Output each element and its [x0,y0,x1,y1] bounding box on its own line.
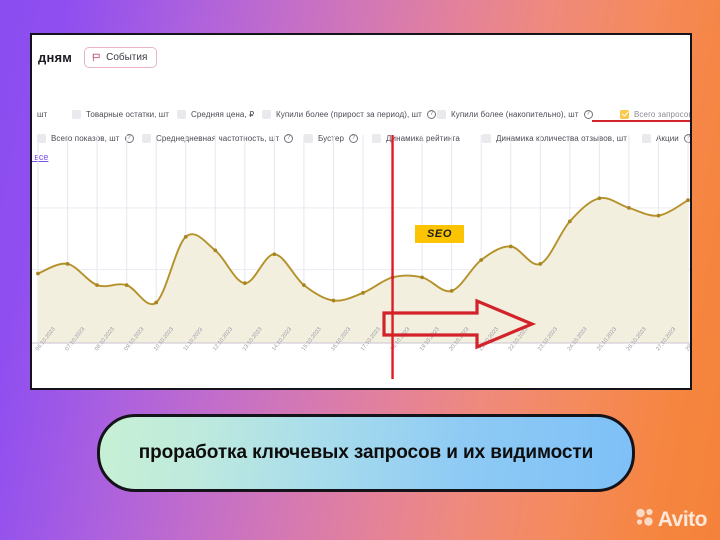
metric-checkbox-item[interactable]: Купили более (накопительно), шт? [437,110,593,119]
events-button-label: События [106,52,147,63]
metric-checkbox-item[interactable]: шт [37,110,47,119]
checkbox-icon[interactable] [177,110,186,119]
caption-text: проработка ключевых запросов и их видимо… [139,440,593,466]
metric-checkbox-item[interactable]: Всего запросов, шт? [620,110,692,119]
metric-label: Всего запросов, шт [634,110,692,119]
metric-checkbox-item[interactable]: Средняя цена, ₽ [177,110,254,119]
seo-annotation-badge: SEO [415,225,464,243]
metric-label: Купили более (накопительно), шт [451,110,579,119]
checkbox-icon[interactable] [437,110,446,119]
metric-label: шт [37,110,47,119]
chart-plot-area[interactable]: 06.10.202307.10.202308.10.202309.10.2023… [32,135,692,390]
avito-watermark-text: Avito [658,508,707,532]
metric-checkbox-item[interactable]: Купили более (прирост за период), шт? [262,110,436,119]
avito-watermark: Avito [635,507,707,532]
metric-label: Купили более (прирост за период), шт [276,110,422,119]
metric-label: Средняя цена, ₽ [191,110,254,119]
card-header: дням События [32,42,690,72]
checkbox-icon[interactable] [620,110,629,119]
checkbox-icon[interactable] [72,110,81,119]
avito-dots-icon [635,507,655,532]
checkbox-icon[interactable] [262,110,271,119]
events-button[interactable]: События [84,47,157,68]
caption-banner: проработка ключевых запросов и их видимо… [97,414,635,492]
flag-icon [92,53,101,62]
active-metric-underline [592,120,692,122]
metric-checkbox-item[interactable]: Товарные остатки, шт [72,110,169,119]
analytics-card: дням События штТоварные остатки, штСредн… [30,33,692,390]
help-icon[interactable]: ? [427,110,436,119]
metric-label: Товарные остатки, шт [86,110,169,119]
requests-line-chart: 06.10.202307.10.202308.10.202309.10.2023… [32,135,692,390]
period-title: дням [38,50,72,65]
help-icon[interactable]: ? [584,110,593,119]
